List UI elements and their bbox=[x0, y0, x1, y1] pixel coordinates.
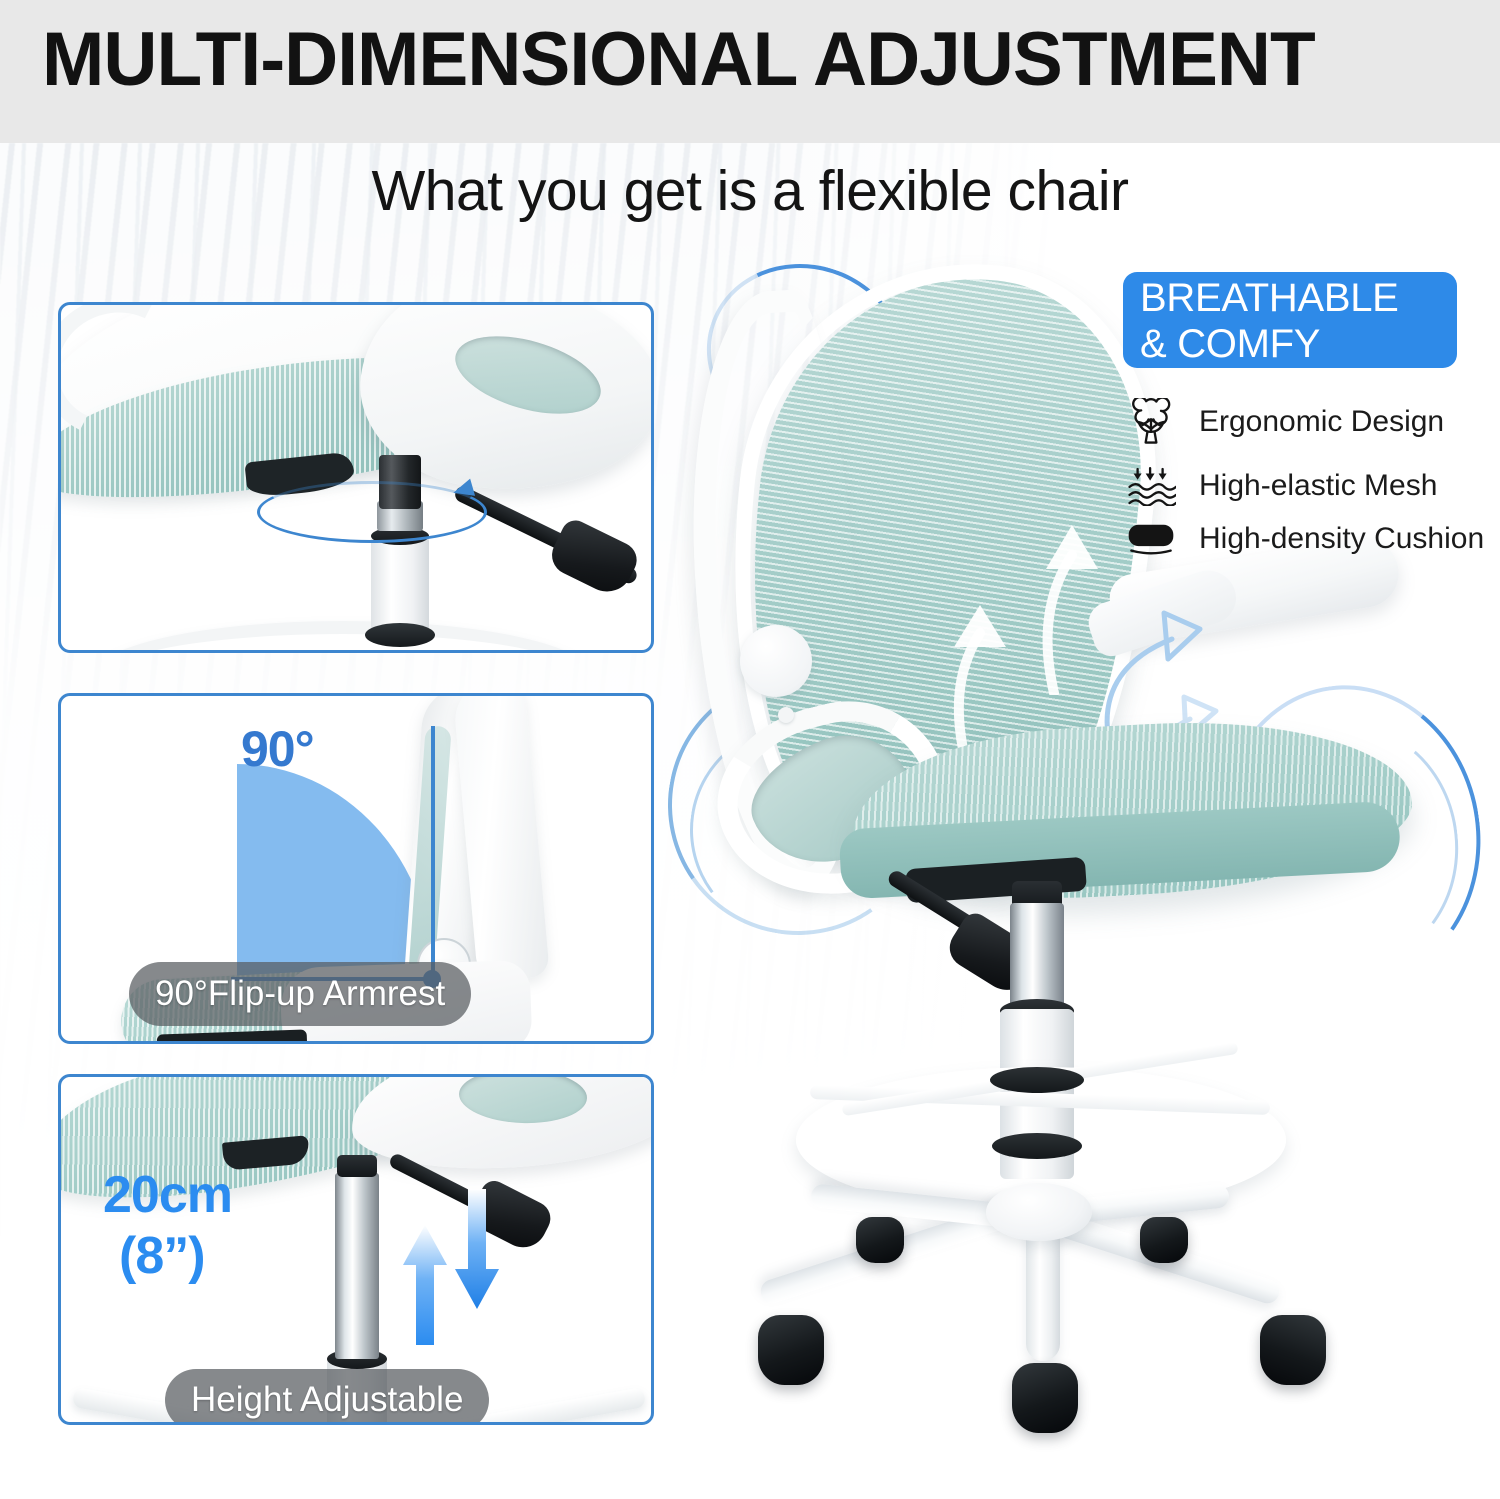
cushion-block-icon bbox=[1123, 513, 1179, 565]
feature-panel-armrest: 90° 90°Flip-up Armrest bbox=[58, 693, 654, 1044]
feature-panel-height: 20cm (8”) Height Adjustable bbox=[58, 1074, 654, 1425]
cylinder-collar-lower bbox=[365, 623, 435, 647]
cylinder-collar-3 bbox=[992, 1133, 1082, 1159]
feature-label: High-elastic Mesh bbox=[1199, 469, 1437, 503]
chair-caster bbox=[1260, 1315, 1326, 1385]
dimension-value-inch: (8”) bbox=[119, 1226, 232, 1287]
infographic-canvas: MULTI-DIMENSIONAL ADJUSTMENT What you ge… bbox=[0, 0, 1500, 1499]
dimension-label-height: 20cm (8”) bbox=[103, 1165, 232, 1288]
feature-high-density-cushion: High-density Cushion bbox=[1123, 513, 1484, 565]
dimension-value-cm: 20cm bbox=[103, 1166, 232, 1224]
gas-cylinder-chrome bbox=[1010, 903, 1064, 1011]
armrest-button bbox=[778, 707, 794, 723]
height-lever-grip bbox=[545, 516, 642, 600]
gas-cylinder-sleeve bbox=[371, 537, 429, 633]
feature-panel-rotate: 360° Rotatable bbox=[58, 302, 654, 653]
breathable-comfy-badge: BREATHABLE & COMFY bbox=[1123, 272, 1457, 368]
badge-line-1: BREATHABLE bbox=[1140, 275, 1457, 321]
caption-flip-up-armrest: 90°Flip-up Armrest bbox=[129, 962, 471, 1026]
feature-label: High-density Cushion bbox=[1199, 522, 1484, 556]
feature-ergonomic-design: Ergonomic Design bbox=[1123, 396, 1444, 448]
footring bbox=[93, 621, 593, 653]
breathable-waves-icon bbox=[1123, 460, 1179, 512]
caption-height-adjustable: Height Adjustable bbox=[165, 1369, 489, 1425]
angle-vertical bbox=[431, 726, 435, 980]
chair-caster bbox=[1012, 1363, 1078, 1433]
angle-label-90: 90° bbox=[241, 720, 314, 778]
arrow-up-icon bbox=[403, 1225, 447, 1345]
page-subtitle: What you get is a flexible chair bbox=[0, 158, 1500, 224]
arrow-down-icon bbox=[455, 1189, 499, 1309]
badge-line-2: & COMFY bbox=[1140, 321, 1457, 367]
armrest-pivot-knob bbox=[740, 625, 812, 697]
base-hub bbox=[986, 1183, 1092, 1241]
gas-cylinder-chrome bbox=[335, 1173, 379, 1359]
feature-label: Ergonomic Design bbox=[1199, 405, 1444, 439]
cylinder-top-cap bbox=[337, 1155, 377, 1177]
angle-wedge-90-icon bbox=[237, 764, 433, 978]
cylinder-collar-2 bbox=[990, 1067, 1084, 1093]
chair-caster bbox=[758, 1315, 824, 1385]
page-title: MULTI-DIMENSIONAL ADJUSTMENT bbox=[42, 22, 1441, 98]
chair-caster bbox=[1140, 1217, 1188, 1263]
chair-caster bbox=[856, 1217, 904, 1263]
cotton-boll-icon bbox=[1123, 396, 1179, 448]
feature-high-elastic-mesh: High-elastic Mesh bbox=[1123, 460, 1437, 512]
